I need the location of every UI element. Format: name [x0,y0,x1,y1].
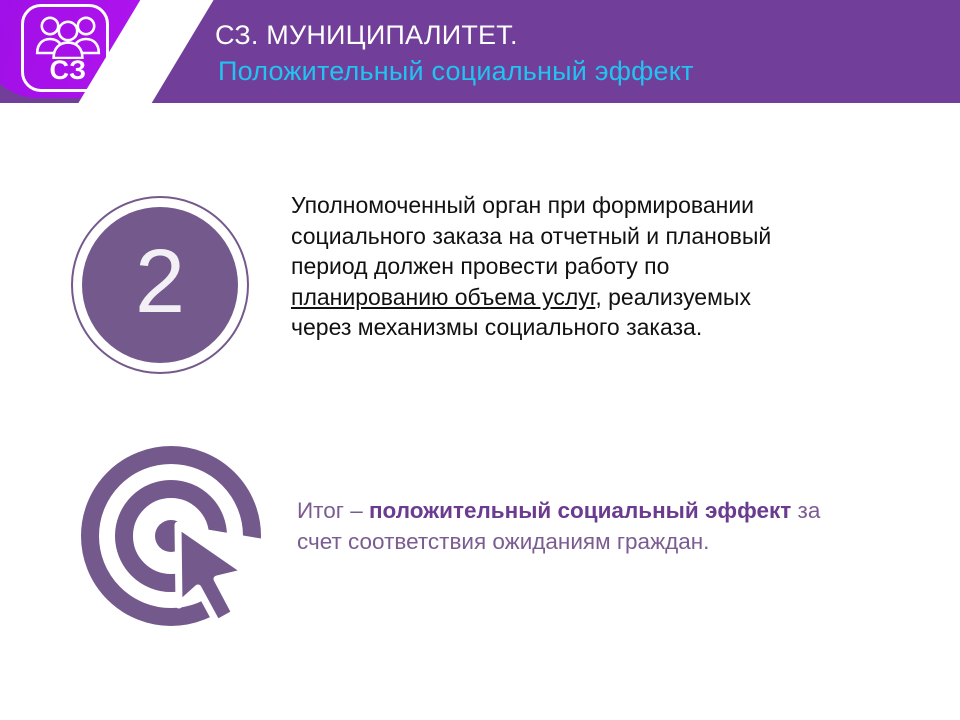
main-paragraph-part1: Уполномоченный орган при формировании со… [291,192,771,279]
group-of-people-icon [34,15,102,59]
numbered-circle-badge: 2 [71,196,249,374]
slide-header: СЗ СЗ. МУНИЦИПАЛИТЕТ. Положительный соци… [0,0,960,103]
slide-canvas: СЗ СЗ. МУНИЦИПАЛИТЕТ. Положительный соци… [0,0,960,720]
target-with-cursor-icon [78,443,264,629]
badge-number-label: 2 [71,196,249,374]
logo-badge: СЗ [21,4,109,92]
result-paragraph-bold: положительный социальный эффект [369,498,791,523]
header-title-group: СЗ. МУНИЦИПАЛИТЕТ. Положительный социаль… [215,17,945,89]
main-paragraph-underlined: планированию объема услуг [291,284,595,310]
result-paragraph-part1: Итог – [297,498,369,523]
page-title-secondary: Положительный социальный эффект [218,53,945,89]
main-paragraph: Уполномоченный орган при формировании со… [291,190,801,343]
logo-abbr-label: СЗ [24,57,112,84]
page-title-primary: СЗ. МУНИЦИПАЛИТЕТ. [215,17,945,53]
result-paragraph: Итог – положительный социальный эффект з… [297,495,857,557]
